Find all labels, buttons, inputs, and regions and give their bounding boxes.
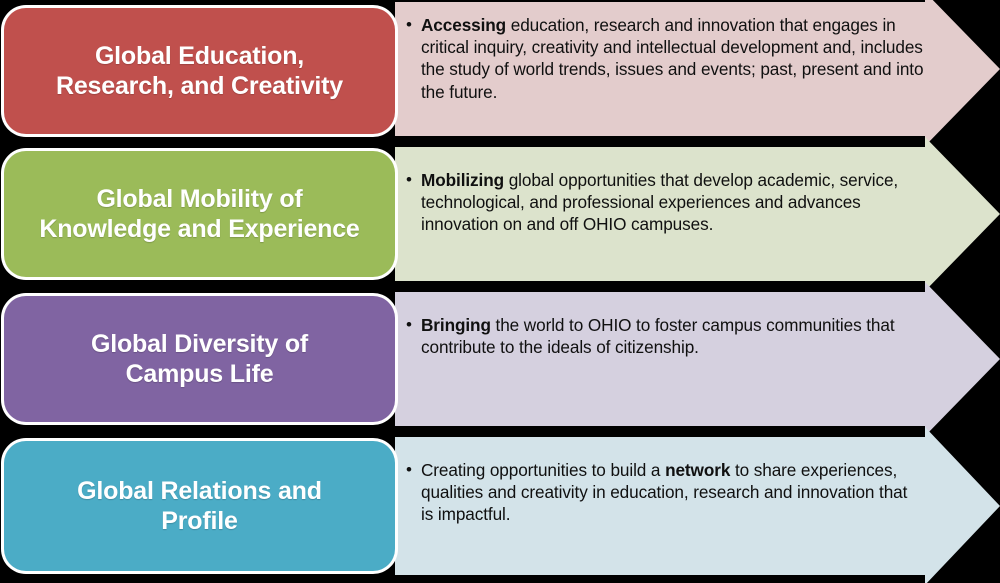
arrow-text-lead-1: Accessing: [421, 15, 506, 35]
label-box-global-education-research-creativity[interactable]: Global Education, Research, and Creativi…: [4, 8, 395, 134]
bullet-icon: •: [406, 459, 412, 481]
label-box-global-diversity-campus-life[interactable]: Global Diversity of Campus Life: [4, 296, 395, 422]
arrow-body-text-2: • Mobilizing global opportunities that d…: [404, 169, 924, 236]
bullet-icon: •: [406, 169, 412, 191]
label-text-4: Global Relations and Profile: [77, 476, 322, 537]
label-text-2: Global Mobility of Knowledge and Experie…: [39, 184, 359, 245]
label-text-1: Global Education, Research, and Creativi…: [56, 41, 343, 102]
label-line-1b: Research, and Creativity: [56, 71, 343, 102]
label-line-1a: Global Education,: [56, 41, 343, 72]
arrow-text-bold-4: network: [665, 460, 730, 480]
diagram-row-global-diversity-campus-life: • Bringing the world to OHIO to foster c…: [0, 292, 1000, 426]
arrow-text-body-4: Creating opportunities to build a: [421, 460, 665, 480]
bullet-icon: •: [406, 14, 412, 36]
label-line-4a: Global Relations and: [77, 476, 322, 507]
arrow-text-lead-2: Mobilizing: [421, 170, 504, 190]
arrow-text-body-3: the world to OHIO to foster campus commu…: [421, 315, 895, 357]
bullet-icon: •: [406, 314, 412, 336]
diagram-row-global-mobility-knowledge-experience: • Mobilizing global opportunities that d…: [0, 147, 1000, 281]
label-text-3: Global Diversity of Campus Life: [91, 329, 308, 390]
diagram-row-global-education-research-creativity: • Accessing education, research and inno…: [0, 2, 1000, 136]
label-line-2a: Global Mobility of: [39, 184, 359, 215]
diagram-canvas: • Accessing education, research and inno…: [0, 0, 1000, 583]
label-line-2b: Knowledge and Experience: [39, 214, 359, 245]
arrow-shape-3: [395, 282, 1000, 436]
label-line-3b: Campus Life: [91, 359, 308, 390]
arrow-body-text-4: • Creating opportunities to build a netw…: [404, 459, 924, 526]
diagram-row-global-relations-profile: • Creating opportunities to build a netw…: [0, 437, 1000, 575]
arrow-body-text-1: • Accessing education, research and inno…: [404, 14, 924, 103]
arrow-text-lead-3: Bringing: [421, 315, 491, 335]
label-line-3a: Global Diversity of: [91, 329, 308, 360]
label-line-4b: Profile: [77, 506, 322, 537]
label-box-global-relations-profile[interactable]: Global Relations and Profile: [4, 441, 395, 571]
label-box-global-mobility-knowledge-experience[interactable]: Global Mobility of Knowledge and Experie…: [4, 151, 395, 277]
arrow-body-text-3: • Bringing the world to OHIO to foster c…: [404, 314, 924, 358]
